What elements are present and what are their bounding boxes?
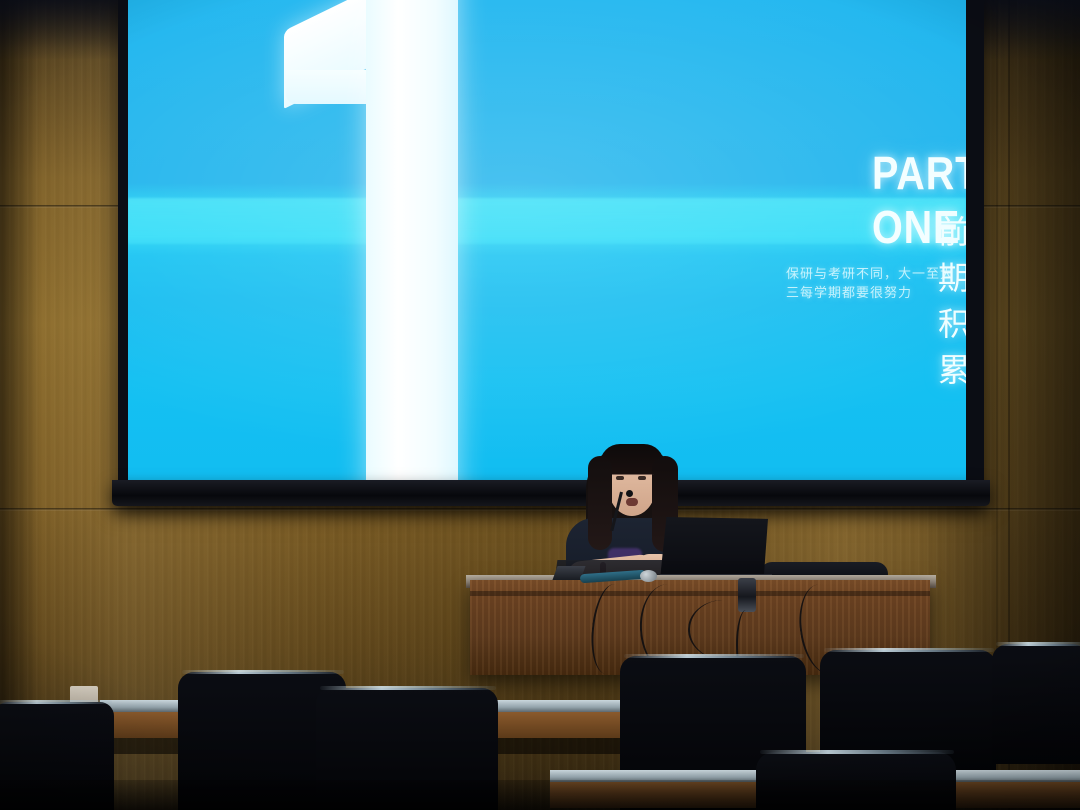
presenter-mouth (626, 498, 638, 506)
chair-rim (760, 750, 954, 754)
headset-mic-icon (626, 490, 633, 497)
presentation-slide: PART ONE 前期积累 保研与考研不同，大一至大三每学期都要很努力 (128, 0, 966, 482)
lecture-hall-photo: PART ONE 前期积累 保研与考研不同，大一至大三每学期都要很努力 (0, 0, 1080, 810)
chair-rim (996, 642, 1080, 646)
chair-rim (182, 670, 344, 674)
chair-rim (0, 700, 112, 704)
projection-screen-bottom-bar (112, 480, 990, 506)
chair-rim (320, 686, 496, 690)
microphone-head (640, 570, 657, 582)
floor-shadow (0, 780, 1080, 810)
slide-highlight-band (128, 198, 966, 244)
laptop-icon (660, 517, 768, 579)
wall-seam-lower (0, 508, 1080, 511)
podium-lip (470, 591, 930, 596)
slide-subtitle-chinese: 保研与考研不同，大一至大三每学期都要很努力 (786, 263, 966, 301)
numeral-foot (286, 70, 378, 104)
numeral-stem (366, 0, 458, 482)
chair (992, 644, 1080, 764)
chair-rim (624, 654, 804, 658)
wall-shadow-left (0, 0, 40, 810)
slide-numeral-one (268, 0, 508, 482)
chair-rim (824, 648, 994, 652)
presenter-eye-right (638, 476, 646, 480)
presenter-eye-left (616, 476, 624, 480)
presenter-hair-left (588, 456, 612, 550)
